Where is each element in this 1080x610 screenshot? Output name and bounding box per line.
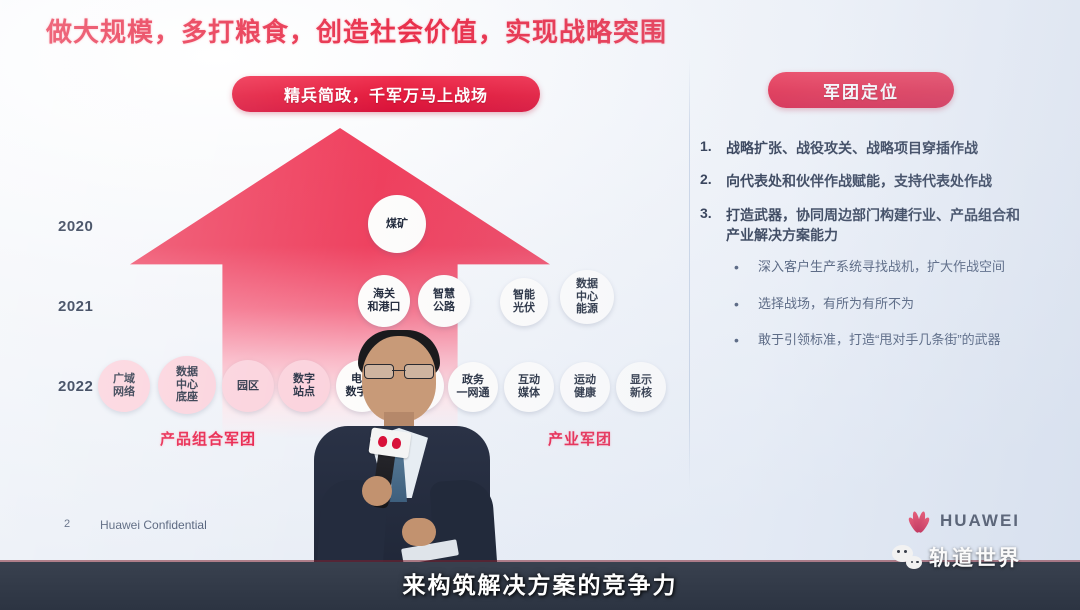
list-index: 2. (700, 171, 726, 191)
badge-right: 军团定位 (768, 72, 954, 108)
diagram-bubble: 运动健康 (560, 362, 610, 412)
diagram-bubble-label: 数据中心能源 (573, 278, 601, 317)
diagram-bubble: 数据中心底座 (158, 356, 216, 414)
badge-left: 精兵简政，千军万马上战场 (232, 76, 540, 112)
diagram-bubble: 园区 (222, 360, 274, 412)
year-label-2020: 2020 (58, 218, 118, 235)
diagram-bubble: 海关和港口 (358, 275, 410, 327)
diagram-bubble-label: 智慧公路 (430, 288, 458, 314)
speaker-hand-holding-mic (362, 476, 392, 506)
diagram-bubble-label: 园区 (234, 380, 262, 393)
bullet-marker-icon: • (734, 295, 758, 315)
bullet-marker-icon: • (734, 331, 758, 351)
list-index: 1. (700, 138, 726, 158)
diagram-bubble-label: 互动媒体 (515, 374, 543, 400)
huawei-logo: HUAWEI (905, 510, 1020, 532)
page-title: 做大规模，多打粮食，创造社会价值，实现战略突围 (46, 12, 667, 49)
numbered-list-item: 3.打造武器，协同周边部门构建行业、产品组合和产业解决方案能力 (700, 205, 1030, 246)
diagram-bubble-label: 海关和港口 (365, 288, 404, 314)
diagram-bubble-label: 数据中心底座 (173, 366, 201, 405)
diagram-bubble-label: 显示新核 (627, 374, 655, 400)
channel-watermark: 轨道世界 (892, 542, 1021, 572)
channel-name: 轨道世界 (929, 542, 1021, 572)
diagram-bubble: 互动媒体 (504, 362, 554, 412)
microphone-flag-logo (368, 427, 411, 458)
diagram-bubble: 数据中心能源 (560, 270, 614, 324)
list-index: 3. (700, 205, 726, 246)
diagram-bubble: 显示新核 (616, 362, 666, 412)
bullet-marker-icon: • (734, 258, 758, 278)
category-label-product: 产品组合军团 (160, 428, 256, 449)
numbered-list-item: 2.向代表处和伙伴作战赋能，支持代表处作战 (700, 171, 1030, 191)
numbered-list: 1.战略扩张、战役攻关、战略项目穿插作战2.向代表处和伙伴作战赋能，支持代表处作… (700, 138, 1030, 245)
diagram-bubble: 智慧公路 (418, 275, 470, 327)
bullet-list-item: •深入客户生产系统寻找战机，扩大作战空间 (734, 258, 1030, 278)
category-label-vertical: 产业军团 (548, 428, 612, 449)
year-label-2021: 2021 (58, 298, 118, 315)
speaker-head (362, 336, 436, 422)
bullet-list-item: •敢于引领标准，打造“甩对手几条街”的武器 (734, 331, 1030, 351)
presentation-slide: 做大规模，多打粮食，创造社会价值，实现战略突围 精兵简政，千军万马上战场 军团定… (0, 0, 1080, 562)
list-text: 战略扩张、战役攻关、战略项目穿插作战 (726, 138, 978, 158)
diagram-bubble-label: 广域网络 (110, 373, 138, 399)
diagram-bubble: 智能光伏 (500, 278, 548, 326)
wechat-icon (892, 545, 922, 569)
huawei-flower-icon (905, 510, 933, 532)
diagram-bubble: 煤矿 (368, 195, 426, 253)
speaker-glasses-icon (364, 364, 434, 377)
bullet-text: 选择战场，有所为有所不为 (758, 295, 914, 315)
diagram-bubble-label: 煤矿 (383, 218, 411, 231)
bullet-list: •深入客户生产系统寻找战机，扩大作战空间•选择战场，有所为有所不为•敢于引领标准… (700, 258, 1030, 351)
numbered-list-item: 1.战略扩张、战役攻关、战略项目穿插作战 (700, 138, 1030, 158)
diagram-bubble: 广域网络 (98, 360, 150, 412)
list-text: 打造武器，协同周边部门构建行业、产品组合和产业解决方案能力 (726, 205, 1030, 246)
bullet-text: 深入客户生产系统寻找战机，扩大作战空间 (758, 258, 1005, 278)
confidential-notice: Huawei Confidential (100, 518, 207, 532)
slide-page-number: 2 (64, 518, 70, 530)
diagram-bubble-label: 智能光伏 (510, 289, 538, 315)
video-frame: 做大规模，多打粮食，创造社会价值，实现战略突围 精兵简政，千军万马上战场 军团定… (0, 0, 1080, 610)
year-axis: 2020 2021 2022 (0, 120, 110, 420)
bullet-text: 敢于引领标准，打造“甩对手几条街”的武器 (758, 331, 1001, 351)
bullet-list-item: •选择战场，有所为有所不为 (734, 295, 1030, 315)
list-text: 向代表处和伙伴作战赋能，支持代表处作战 (726, 171, 992, 191)
diagram-bubble-label: 运动健康 (571, 374, 599, 400)
corps-positioning-panel: 1.战略扩张、战役攻关、战略项目穿插作战2.向代表处和伙伴作战赋能，支持代表处作… (700, 138, 1030, 368)
huawei-wordmark: HUAWEI (940, 511, 1020, 531)
speaker-hand-holding-notes (402, 518, 436, 546)
